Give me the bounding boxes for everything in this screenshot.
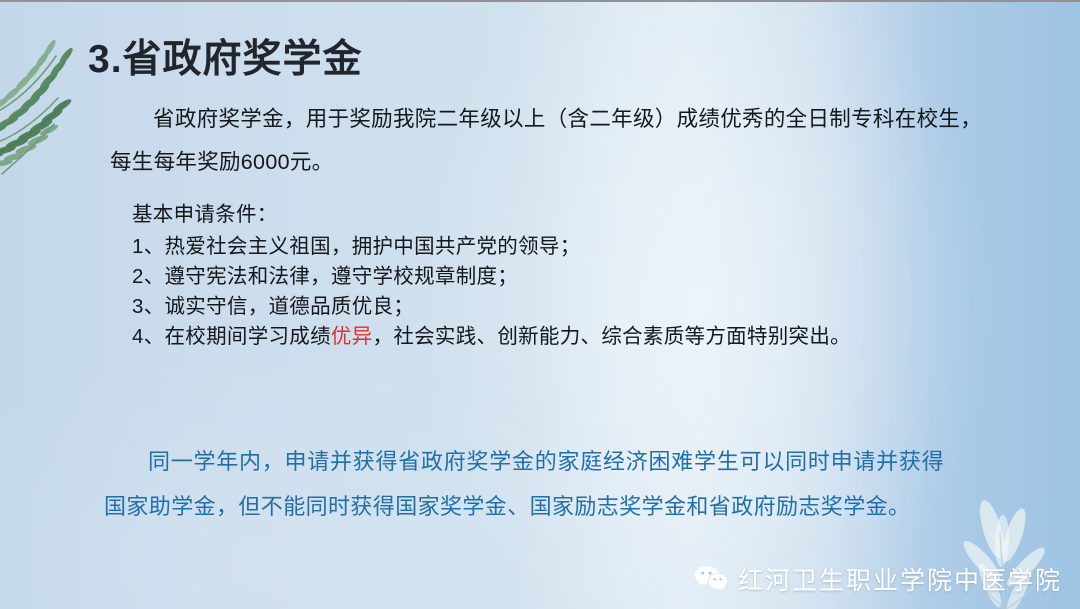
page-title: 3.省政府奖学金 <box>88 28 363 84</box>
conditions-block: 基本申请条件： 1、热爱社会主义祖国，拥护中国共产党的领导； 2、遵守宪法和法律… <box>132 200 851 352</box>
watermark-label: 红河卫生职业学院中医学院 <box>738 561 1062 597</box>
condition-item-4-highlight: 优异 <box>331 325 373 348</box>
condition-item-4-before: 4、在校期间学习成绩 <box>132 325 331 348</box>
wechat-icon <box>694 565 728 593</box>
condition-item-3: 3、诚实守信，道德品质优良； <box>132 292 851 322</box>
condition-item-4-after: ，社会实践、创新能力、综合素质等方面特别突出。 <box>373 325 851 348</box>
intro-paragraph: 省政府奖学金，用于奖励我院二年级以上（含二年级）成绩优秀的全日制专科在校生，每生… <box>110 98 982 184</box>
note-paragraph: 同一学年内，申请并获得省政府奖学金的家庭经济困难学生可以同时申请并获得国家助学金… <box>104 439 944 529</box>
white-flower-icon <box>930 489 1070 609</box>
watermark: 红河卫生职业学院中医学院 <box>694 561 1062 597</box>
slide-canvas: 3.省政府奖学金 省政府奖学金，用于奖励我院二年级以上（含二年级）成绩优秀的全日… <box>0 0 1080 609</box>
condition-item-4: 4、在校期间学习成绩优异，社会实践、创新能力、综合素质等方面特别突出。 <box>132 322 851 352</box>
conditions-heading: 基本申请条件： <box>132 200 851 230</box>
condition-item-1: 1、热爱社会主义祖国，拥护中国共产党的领导； <box>132 232 851 262</box>
condition-item-2: 2、遵守宪法和法律，遵守学校规章制度； <box>132 262 851 292</box>
